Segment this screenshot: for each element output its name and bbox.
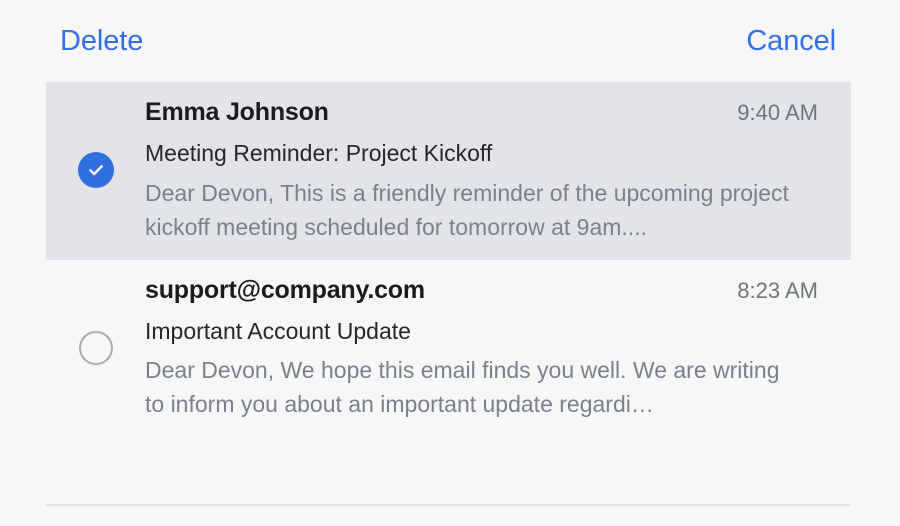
message-timestamp: 8:23 AM: [737, 276, 818, 305]
message-preview: Dear Devon, This is a friendly reminder …: [145, 176, 800, 244]
message-preview: Dear Devon, We hope this email finds you…: [145, 353, 800, 421]
message-timestamp: 9:40 AM: [737, 98, 818, 127]
message-sender: support@company.com: [145, 274, 425, 307]
message-header: Emma Johnson 9:40 AM: [145, 96, 818, 129]
cancel-button[interactable]: Cancel: [746, 27, 836, 56]
message-content: Emma Johnson 9:40 AM Meeting Reminder: P…: [145, 96, 851, 244]
selection-control[interactable]: [46, 152, 145, 188]
message-content: support@company.com 8:23 AM Important Ac…: [145, 274, 851, 422]
message-list-item[interactable]: support@company.com 8:23 AM Important Ac…: [46, 260, 851, 438]
message-sender: Emma Johnson: [145, 96, 329, 129]
selection-toolbar: Delete Cancel: [0, 0, 900, 82]
circle-outline-icon[interactable]: [79, 331, 113, 365]
delete-button[interactable]: Delete: [60, 27, 143, 56]
message-subject: Important Account Update: [145, 315, 818, 348]
message-header: support@company.com 8:23 AM: [145, 274, 818, 307]
message-list-item[interactable]: Emma Johnson 9:40 AM Meeting Reminder: P…: [46, 82, 851, 260]
message-list: Emma Johnson 9:40 AM Meeting Reminder: P…: [0, 82, 900, 437]
check-circle-filled-icon[interactable]: [78, 152, 114, 188]
message-subject: Meeting Reminder: Project Kickoff: [145, 137, 818, 170]
list-bottom-divider: [46, 504, 850, 506]
selection-control[interactable]: [46, 331, 145, 365]
